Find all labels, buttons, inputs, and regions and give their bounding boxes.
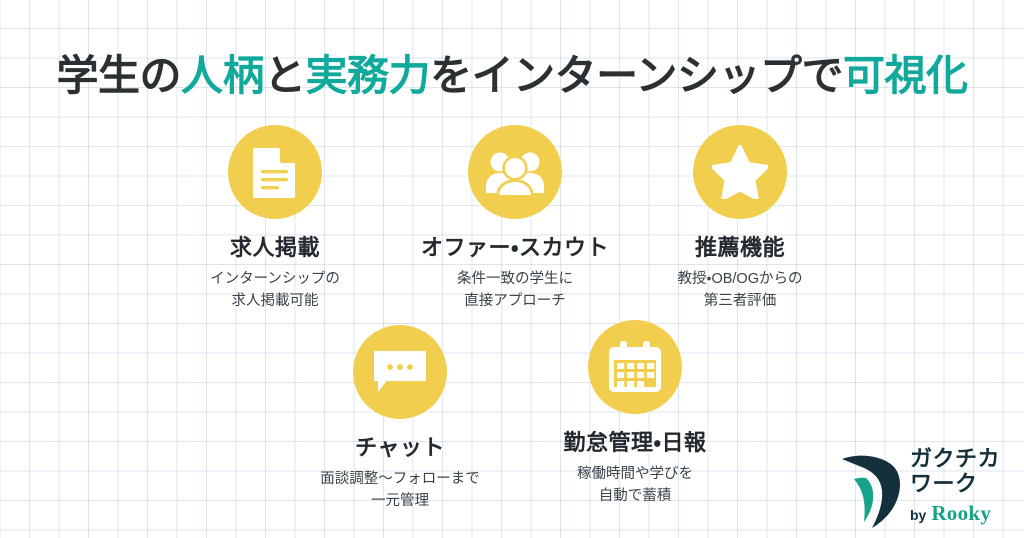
feature-card-offer: オファー・スカウト 条件一致の学生に 直接アプローチ <box>385 125 645 313</box>
feature-card-jobs: 求人掲載 インターンシップの 求人掲載可能 <box>145 125 405 313</box>
feature-desc-recommendation: 教授・OB/OGからの 第三者評価 <box>610 269 870 313</box>
title-segment-1: 人柄 <box>181 52 264 99</box>
feature-card-attendance: 勤怠管理・日報 稼働時間や学びを 自動で蓄積 <box>505 320 765 508</box>
brand-rooky: Rooky <box>931 501 991 525</box>
feature-card-recommendation: 推薦機能 教授・OB/OGからの 第三者評価 <box>610 125 870 313</box>
feature-desc-line: 条件一致の学生に <box>385 269 645 291</box>
feature-icon-circle-recommendation <box>693 125 787 219</box>
feature-title-chat: チャット <box>270 435 530 461</box>
feature-icon-circle-attendance <box>588 320 682 414</box>
brand-name-line1: ガクチカ <box>910 447 1020 472</box>
title-segment-4: をインターンシップで <box>430 52 843 99</box>
wing-swoosh-logo-mark <box>842 449 904 534</box>
feature-card-chat: チャット 面談調整〜フォローまで 一元管理 <box>270 325 530 513</box>
title-segment-2: と <box>264 52 306 99</box>
feature-title-recommendation: 推薦機能 <box>610 235 870 261</box>
feature-desc-line: 直接アプローチ <box>385 291 645 313</box>
byline-prefix: by <box>910 507 926 523</box>
feature-desc-line: 自動で蓄積 <box>505 486 765 508</box>
feature-desc-chat: 面談調整〜フォローまで 一元管理 <box>270 469 530 513</box>
title-segment-0: 学生の <box>57 52 182 99</box>
feature-desc-line: 第三者評価 <box>610 291 870 313</box>
title-segment-3: 実務力 <box>306 52 431 99</box>
slide-canvas: 学生の人柄と実務力をインターンシップで可視化 求人掲載 インターンシップの 求人… <box>0 0 1024 538</box>
feature-desc-line: 稼働時間や学びを <box>505 464 765 486</box>
brand-name-line2: ワーク <box>910 472 1020 497</box>
feature-desc-line: 教授・OB/OGからの <box>610 269 870 291</box>
feature-desc-line: 求人掲載可能 <box>145 291 405 313</box>
feature-title-jobs: 求人掲載 <box>145 235 405 261</box>
feature-desc-line: インターンシップの <box>145 269 405 291</box>
feature-icon-circle-offer <box>468 125 562 219</box>
feature-icon-circle-jobs <box>228 125 322 219</box>
feature-desc-line: 一元管理 <box>270 491 530 513</box>
page-title: 学生の人柄と実務力をインターンシップで可視化 <box>0 50 1024 103</box>
feature-title-offer: オファー・スカウト <box>385 235 645 261</box>
brand-byline: byRooky <box>910 501 1020 526</box>
title-segment-5: 可視化 <box>843 52 968 99</box>
feature-desc-jobs: インターンシップの 求人掲載可能 <box>145 269 405 313</box>
feature-desc-attendance: 稼働時間や学びを 自動で蓄積 <box>505 464 765 508</box>
feature-desc-line: 面談調整〜フォローまで <box>270 469 530 491</box>
brand-logo: ガクチカ ワーク byRooky <box>842 447 1017 531</box>
feature-desc-offer: 条件一致の学生に 直接アプローチ <box>385 269 645 313</box>
feature-icon-circle-chat <box>353 325 447 419</box>
brand-logo-text: ガクチカ ワーク byRooky <box>910 447 1020 526</box>
feature-title-attendance: 勤怠管理・日報 <box>505 430 765 456</box>
